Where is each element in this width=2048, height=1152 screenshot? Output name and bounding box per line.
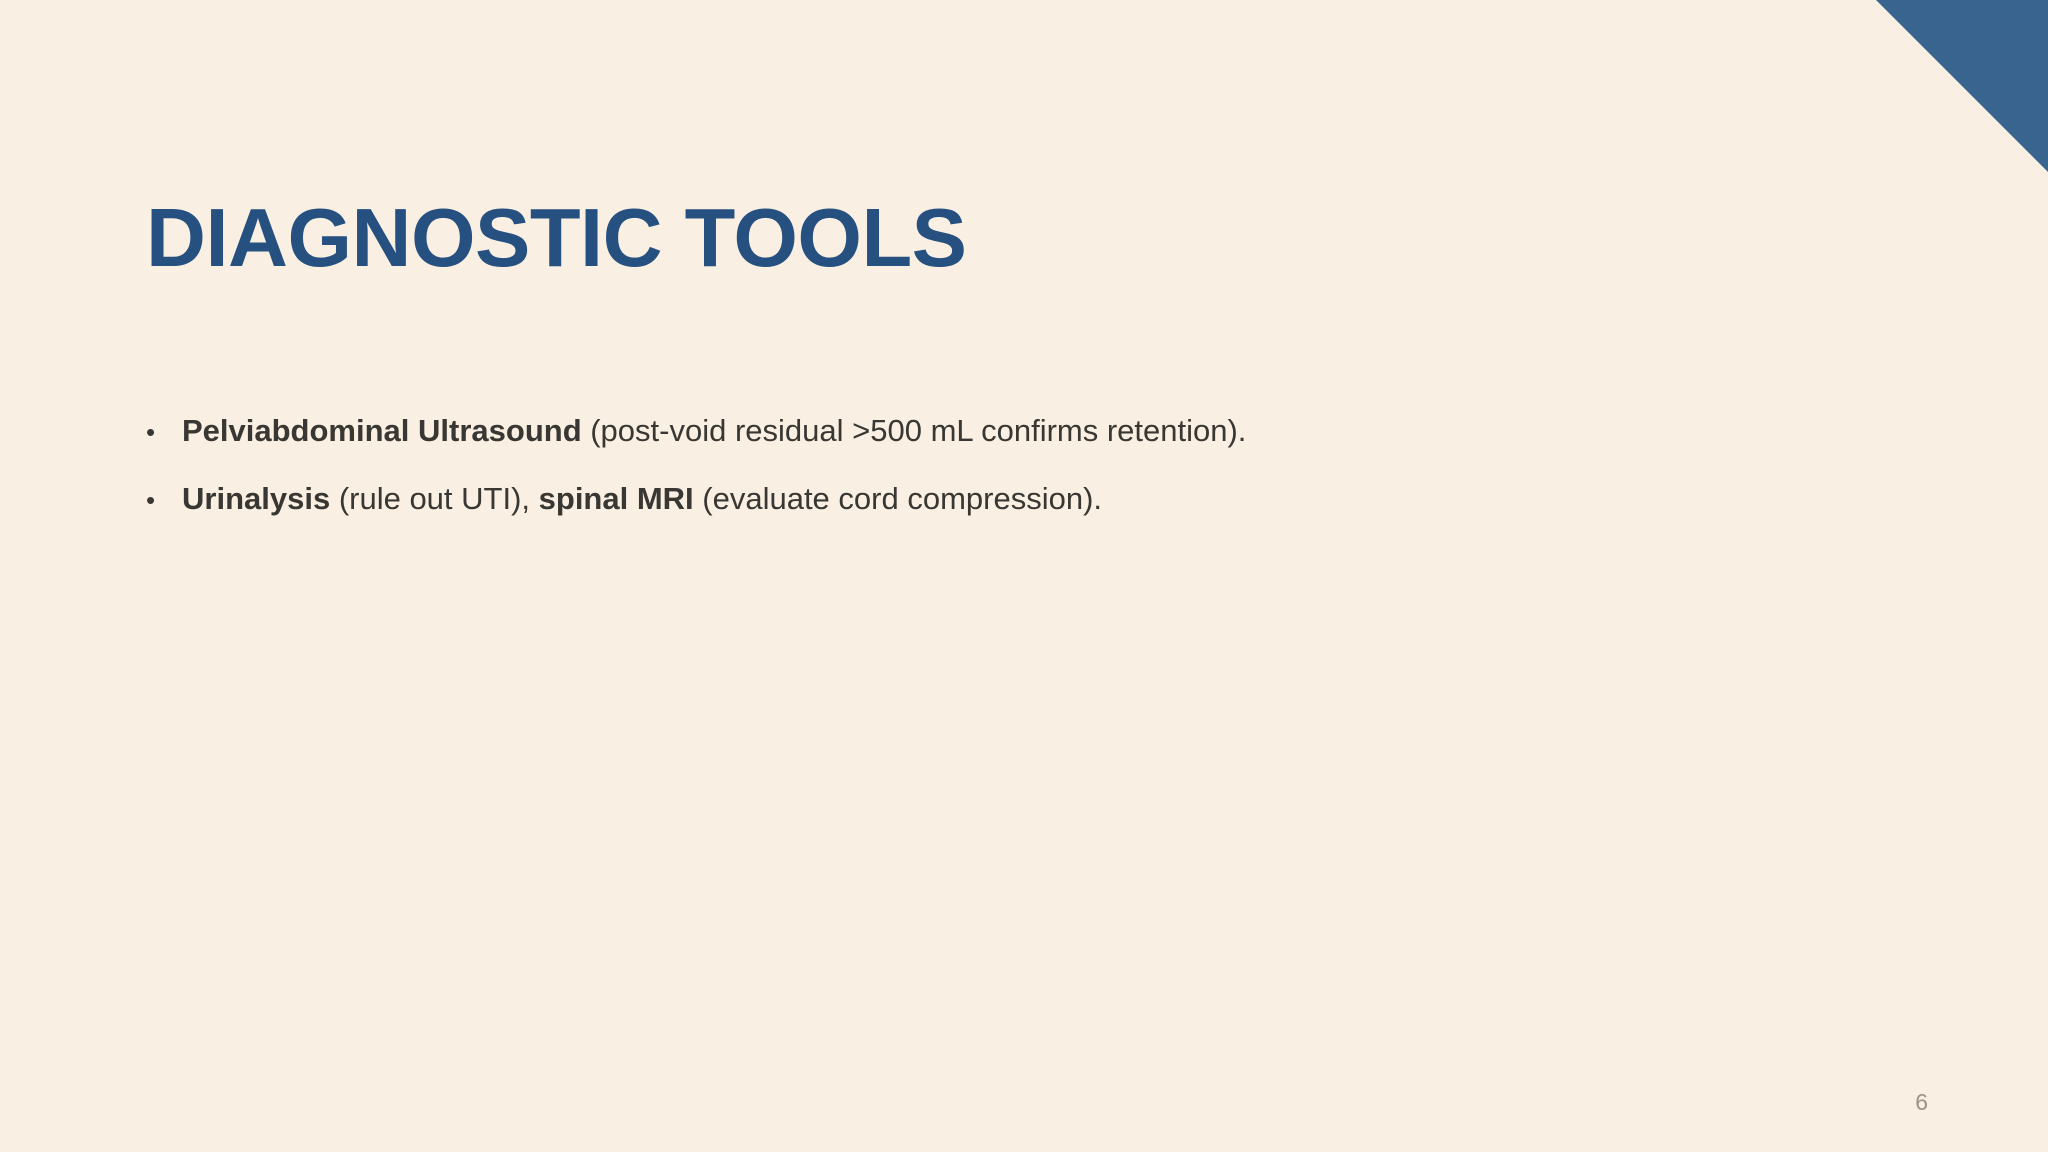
list-item: •Urinalysis (rule out UTI), spinal MRI (… [140, 478, 1840, 520]
bullet-list: •Pelviabdominal Ultrasound (post-void re… [140, 410, 1840, 546]
corner-triangle-decoration [1876, 0, 2048, 172]
body-text: (rule out UTI), [330, 481, 538, 516]
page-title: Diagnostic Tools [146, 196, 967, 279]
list-item: •Pelviabdominal Ultrasound (post-void re… [140, 410, 1840, 452]
slide-canvas: Diagnostic Tools •Pelviabdominal Ultraso… [0, 0, 2048, 1152]
emphasis-text: Pelviabdominal Ultrasound [182, 413, 582, 448]
emphasis-text: Urinalysis [182, 481, 330, 516]
list-item-text: Urinalysis (rule out UTI), spinal MRI (e… [182, 478, 1840, 520]
body-text: (post-void residual >500 mL confirms ret… [582, 413, 1247, 448]
bullet-point-icon: • [140, 415, 182, 450]
list-item-text: Pelviabdominal Ultrasound (post-void res… [182, 410, 1840, 452]
emphasis-text: spinal MRI [539, 481, 694, 516]
body-text: (evaluate cord compression). [694, 481, 1102, 516]
page-number: 6 [1915, 1089, 1928, 1116]
bullet-point-icon: • [140, 483, 182, 518]
